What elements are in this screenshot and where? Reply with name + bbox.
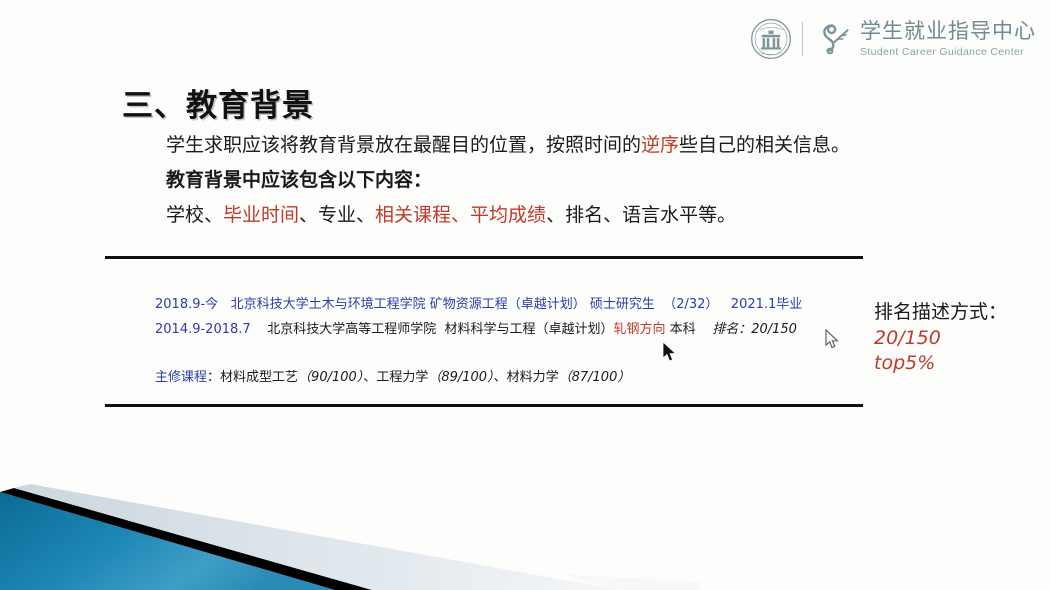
intro-line-1: 学生求职应该将教育背景放在最醒目的位置，按照时间的逆序些自己的相关信息。 [166, 128, 906, 163]
intro-line-2: 教育背景中应该包含以下内容： [166, 163, 906, 198]
courses-sep-2: 、 [494, 370, 507, 385]
decorative-banner [0, 470, 700, 590]
entry1-graduation: 2021.1毕业 [731, 297, 803, 312]
intro-line-3: 学校、毕业时间、专业、相关课程、平均成绩、排名、语言水平等。 [166, 198, 906, 233]
entry2-rank: 排名：20/150 [712, 322, 797, 337]
rank-format-note: 排名描述方式： 20/150 top5% [874, 300, 1007, 377]
resume-courses: 主修课程：材料成型工艺（90/100）、工程力学（89/100）、材料力学（87… [155, 365, 875, 390]
brand-logo: 学生就业指导中心 Student Career Guidance Center [750, 14, 1036, 64]
courses-sep-1: 、 [363, 370, 376, 385]
intro-line-3-p3: 、排名、语言水平等。 [546, 204, 736, 226]
mouse-cursor-hollow [825, 329, 840, 350]
intro-line-3-p2: 、专业、 [299, 204, 375, 226]
resume-entry-1: 2018.9-今 北京科技大学土木与环境工程学院 矿物资源工程（卓越计划） 硕士… [155, 292, 875, 317]
brand-divider [802, 22, 803, 56]
intro-line-3-p1: 学校、 [166, 204, 223, 226]
intro-line-1-highlight: 逆序 [641, 134, 679, 156]
entry1-school: 北京科技大学土木与环境工程学院 [231, 297, 426, 312]
rank-note-item-0: 20/150 [874, 326, 1007, 352]
course-1-name: 材料成型工艺 [220, 370, 298, 385]
course-3-score: （87/100） [559, 370, 631, 385]
course-1-score: （90/100） [298, 370, 363, 385]
rank-note-title: 排名描述方式： [874, 300, 1007, 326]
course-3-name: 材料力学 [507, 370, 559, 385]
entry1-dates: 2018.9-今 [155, 297, 218, 312]
mouse-cursor-solid [662, 341, 678, 364]
page-title: 三、教育背景 [122, 80, 314, 125]
entry1-rank: （2/32） [663, 297, 718, 312]
courses-separator: ： [207, 370, 220, 385]
entry2-dates: 2014.9-2018.7 [155, 322, 251, 337]
career-key-icon [814, 19, 854, 59]
divider-bottom [105, 404, 863, 407]
entry2-school: 北京科技大学高等工程师学院 [267, 322, 436, 337]
brand-text: 学生就业指导中心 Student Career Guidance Center [860, 21, 1036, 58]
resume-entry-2: 2014.9-2018.7 北京科技大学高等工程师学院 材料科学与工程（卓越计划… [155, 317, 875, 342]
intro-line-3-r2: 相关课程、平均成绩 [375, 204, 546, 226]
brand-name-cn: 学生就业指导中心 [860, 21, 1036, 42]
entry1-major: 矿物资源工程（卓越计划） [430, 297, 586, 312]
intro-line-3-r1: 毕业时间 [223, 204, 299, 226]
slide-canvas: 学生就业指导中心 Student Career Guidance Center … [0, 0, 1050, 590]
entry2-degree: 本科 [670, 322, 696, 337]
brand-name-en: Student Career Guidance Center [860, 47, 1036, 58]
courses-label: 主修课程 [155, 370, 207, 385]
rank-note-item-1: top5% [874, 351, 1007, 377]
intro-line-1-part1: 学生求职应该将教育背景放在最醒目的位置，按照时间的 [166, 134, 641, 156]
course-2-score: （89/100） [428, 370, 493, 385]
intro-line-1-part2: 些自己的相关信息。 [679, 134, 850, 156]
intro-block: 学生求职应该将教育背景放在最醒目的位置，按照时间的逆序些自己的相关信息。 教育背… [166, 128, 906, 233]
entry1-degree: 硕士研究生 [590, 297, 655, 312]
entry2-direction: 轧钢方向 [614, 322, 666, 337]
resume-sample-block: 2018.9-今 北京科技大学土木与环境工程学院 矿物资源工程（卓越计划） 硕士… [155, 292, 875, 390]
university-seal-icon [750, 18, 792, 60]
entry2-major: 材料科学与工程（卓越计划） [444, 322, 613, 337]
divider-top [105, 256, 863, 259]
course-2-name: 工程力学 [376, 370, 428, 385]
